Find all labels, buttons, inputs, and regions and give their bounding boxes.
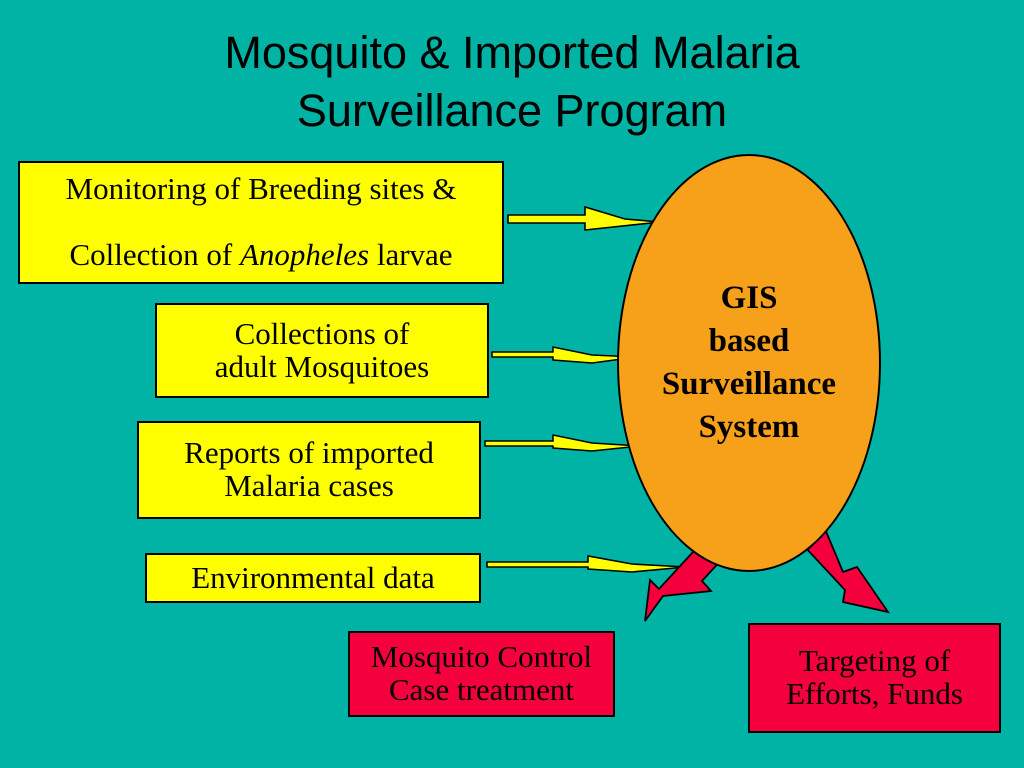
arrow-environment-to-hub <box>487 556 686 572</box>
arrow-reports-to-hub <box>485 435 640 451</box>
output-box-targeting-efforts[interactable]: Targeting of Efforts, Funds <box>748 623 1001 733</box>
input-box-adult-mosquitoes[interactable]: Collections of adult Mosquitoes <box>155 303 489 398</box>
input-box-adult-mosquitoes-label: Collections of adult Mosquitoes <box>157 318 487 384</box>
input-box-imported-malaria-reports-label: Reports of imported Malaria cases <box>139 437 479 503</box>
page-title: Mosquito & Imported Malaria Surveillance… <box>0 24 1024 140</box>
input-box-environmental-data-label: Environmental data <box>147 562 479 595</box>
arrow-breeding-to-hub <box>508 207 660 230</box>
input-box-environmental-data[interactable]: Environmental data <box>145 553 481 603</box>
slide-canvas: Mosquito & Imported Malaria Surveillance… <box>0 0 1024 768</box>
breeding-species-name: Anopheles <box>240 237 369 272</box>
input-box-breeding-sites-label: Monitoring of Breeding sites & Collectio… <box>20 140 502 304</box>
hub-ellipse-label: GIS based Surveillance System <box>662 277 836 449</box>
input-box-breeding-sites[interactable]: Monitoring of Breeding sites & Collectio… <box>18 161 504 284</box>
hub-ellipse-gis-surveillance-system[interactable]: GIS based Surveillance System <box>617 154 881 572</box>
arrow-adult-to-hub <box>492 347 637 363</box>
breeding-line-2: Collection of Anopheles larvae <box>24 239 498 272</box>
breeding-line-1: Monitoring of Breeding sites & <box>24 173 498 206</box>
output-box-mosquito-control[interactable]: Mosquito Control Case treatment <box>348 631 615 717</box>
breeding-line-2-suffix: larvae <box>369 237 452 272</box>
input-box-imported-malaria-reports[interactable]: Reports of imported Malaria cases <box>137 421 481 519</box>
breeding-line-2-prefix: Collection of <box>69 237 239 272</box>
output-box-targeting-efforts-label: Targeting of Efforts, Funds <box>750 645 999 711</box>
output-box-mosquito-control-label: Mosquito Control Case treatment <box>350 641 613 707</box>
